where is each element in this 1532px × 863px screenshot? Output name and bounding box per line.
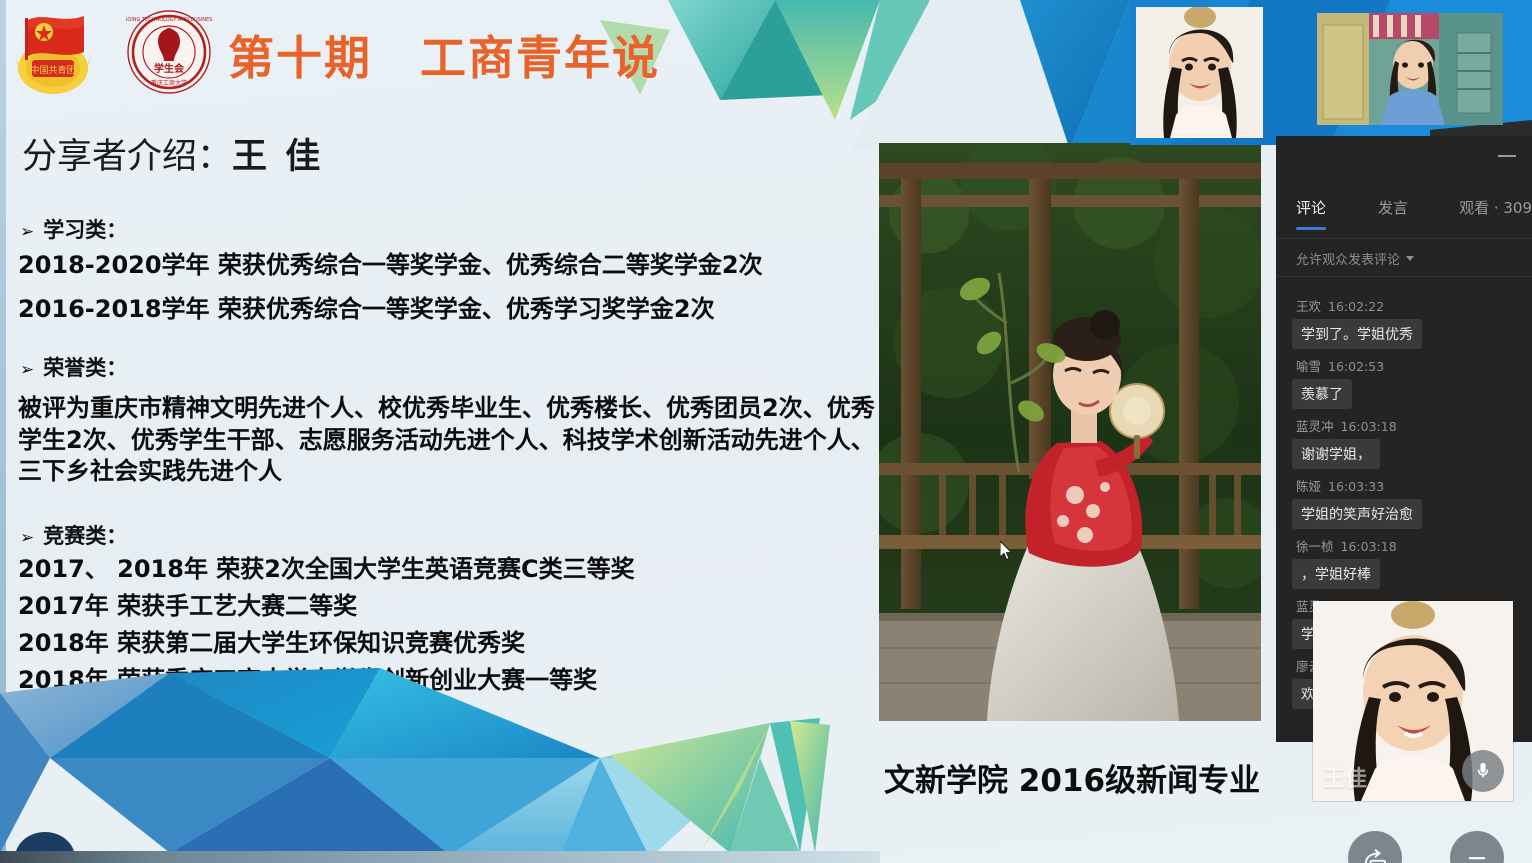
- comment-bubble: ，学姐好棒: [1292, 559, 1380, 589]
- presenter-intro-label: 分享者介绍：: [22, 137, 232, 177]
- bullet-arrow-icon: ➢: [20, 528, 34, 548]
- tab-comments[interactable]: 评论: [1296, 197, 1326, 218]
- bullet-arrow-icon: ➢: [20, 222, 34, 242]
- footer-polygon-decoration: [0, 663, 880, 863]
- microphone-icon[interactable]: [1462, 750, 1504, 792]
- comment-bubble: 羡慕了: [1292, 379, 1352, 409]
- comment-item: 喻雪16:02:53羡慕了: [1292, 356, 1516, 409]
- competition-line-1: 2017、 2018年 荣获2次全国大学生英语竞赛C类三等奖: [18, 554, 635, 585]
- comment-permission-label: 允许观众发表评论: [1296, 249, 1400, 268]
- svg-text:CHONGQING TECHNOLOGY AND BUSIN: CHONGQING TECHNOLOGY AND BUSINESS UNIV: [126, 17, 212, 23]
- chevron-down-icon: [1406, 256, 1414, 261]
- video-tile-speaker[interactable]: [1136, 7, 1263, 138]
- presenter-photo: [879, 143, 1261, 721]
- comment-meta: 蓝灵冲16:03:18: [1296, 416, 1516, 435]
- study-line-2: 2016-2018学年 荣获优秀综合一等奖学金、优秀学习奖学金2次: [18, 294, 715, 325]
- comment-author: 陈娅: [1296, 479, 1321, 494]
- photo-caption: 文新学院 2016级新闻专业: [884, 755, 1260, 800]
- svg-text:中国共青团: 中国共青团: [30, 64, 75, 76]
- minus-icon: [1498, 155, 1516, 157]
- share-icon: [1362, 847, 1388, 863]
- comment-time: 16:03:18: [1341, 539, 1397, 554]
- chat-divider: [1276, 238, 1532, 239]
- comment-bubble: 学姐的笑声好治愈: [1292, 499, 1422, 529]
- comment-item: 徐一桢16:03:18，学姐好棒: [1292, 536, 1516, 589]
- header-polygon-decoration: [600, 0, 1220, 150]
- comment-author: 蓝灵冲: [1296, 419, 1334, 434]
- comment-time: 16:02:53: [1328, 359, 1384, 374]
- section-heading-text: 竞赛类：: [43, 524, 127, 548]
- minimize-panel-button[interactable]: [1496, 149, 1518, 163]
- section-heading-text: 学习类：: [43, 218, 127, 242]
- comment-time: 16:03:18: [1341, 419, 1397, 434]
- svg-text:重庆工商大学: 重庆工商大学: [151, 79, 187, 87]
- chat-divider-2: [1276, 276, 1532, 277]
- comment-meta: 徐一桢16:03:18: [1296, 536, 1516, 555]
- presenter-name: 王 佳: [232, 137, 323, 177]
- competition-line-3: 2018年 荣获第二届大学生环保知识竞赛优秀奖: [18, 628, 525, 659]
- comment-item: 蓝灵冲16:03:18谢谢学姐，: [1292, 416, 1516, 469]
- comment-time: 16:03:33: [1328, 479, 1384, 494]
- comment-item: 陈娅16:03:33学姐的笑声好治愈: [1292, 476, 1516, 529]
- section-heading-text: 荣誉类：: [43, 356, 127, 380]
- chat-tab-bar: 评论 发言 观看 · 309: [1276, 188, 1532, 226]
- comment-item: 王欢16:02:22学到了。学姐优秀: [1292, 296, 1516, 349]
- screen: 中国共青团 学生会 重庆工商大学: [0, 0, 1532, 863]
- minus-icon: [1464, 847, 1490, 863]
- section-heading-study: ➢学习类：: [20, 214, 127, 244]
- honors-paragraph: 被评为重庆市精神文明先进个人、校优秀毕业生、优秀楼长、优秀团员2次、优秀学生2次…: [18, 393, 878, 488]
- svg-text:学生会: 学生会: [154, 62, 184, 75]
- comment-meta: 喻雪16:02:53: [1296, 356, 1516, 375]
- comment-meta: 陈娅16:03:33: [1296, 476, 1516, 495]
- section-heading-honors: ➢荣誉类：: [20, 352, 127, 382]
- comment-bubble: 谢谢学姐，: [1292, 439, 1380, 469]
- student-union-seal-icon: 学生会 重庆工商大学 CHONGQING TECHNOLOGY AND BUSI…: [126, 9, 212, 95]
- logo-group: 中国共青团 学生会 重庆工商大学: [8, 6, 212, 98]
- communist-youth-league-emblem-icon: 中国共青团: [8, 6, 98, 98]
- mouse-cursor: [1000, 541, 1014, 561]
- comment-permission-dropdown[interactable]: 允许观众发表评论: [1296, 249, 1414, 268]
- comment-bubble: 学到了。学姐优秀: [1292, 319, 1422, 349]
- presenter-intro-heading: 分享者介绍：王 佳: [22, 128, 323, 179]
- tab-viewers[interactable]: 观看 · 309: [1459, 197, 1532, 218]
- video-tile-guest[interactable]: [1317, 13, 1503, 125]
- comment-time: 16:02:22: [1328, 299, 1384, 314]
- comment-author: 王欢: [1296, 299, 1321, 314]
- competition-line-2: 2017年 荣获手工艺大赛二等奖: [18, 591, 357, 622]
- comment-author: 徐一桢: [1296, 539, 1334, 554]
- bullet-arrow-icon: ➢: [20, 360, 34, 380]
- pip-participant-name: 王佳: [1323, 761, 1367, 793]
- footer-bar: [0, 851, 880, 863]
- page-title: 第十期 工商青年说: [228, 22, 660, 88]
- section-heading-competition: ➢竞赛类：: [20, 520, 127, 550]
- study-line-1: 2018-2020学年 荣获优秀综合一等奖学金、优秀综合二等奖学金2次: [18, 250, 763, 281]
- tab-speak[interactable]: 发言: [1378, 197, 1408, 218]
- comment-meta: 王欢16:02:22: [1296, 296, 1516, 315]
- self-view-pip[interactable]: 王佳: [1313, 601, 1513, 801]
- comment-author: 喻雪: [1296, 359, 1321, 374]
